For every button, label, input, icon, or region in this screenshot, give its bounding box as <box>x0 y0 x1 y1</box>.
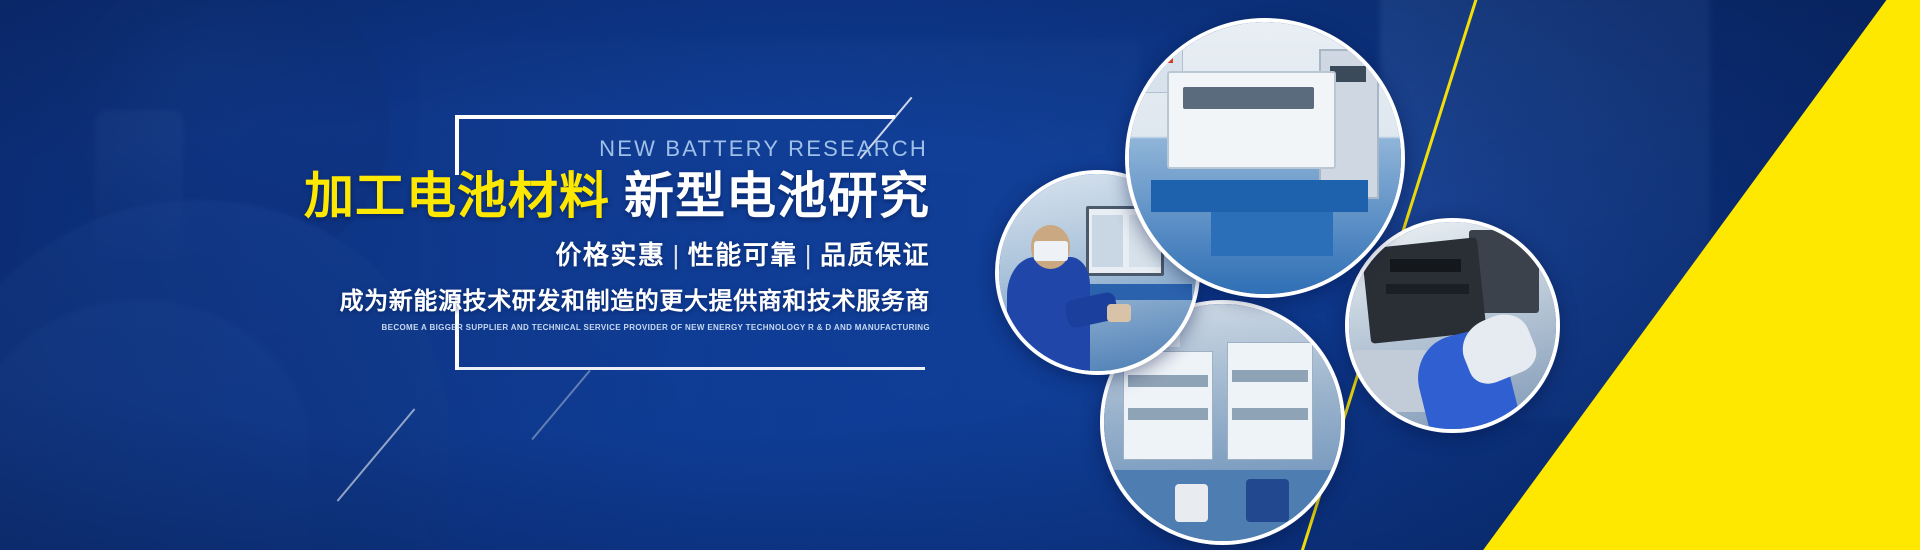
tagline-english-text: BECOME A BIGGER SUPPLIER AND TECHNICAL S… <box>300 323 930 332</box>
feature-item-1: 价格实惠 <box>555 240 665 270</box>
feature-item-2: 性能可靠 <box>688 240 798 270</box>
promo-banner: NEW BATTERY RESEARCH 加工电池材料新型电池研究 价格实惠|性… <box>0 0 1920 550</box>
feature-separator-2: | <box>805 240 813 270</box>
frame-top-horizontal <box>455 115 895 119</box>
operator-face-mask <box>1034 241 1067 261</box>
rack-shelf-3 <box>1232 370 1308 382</box>
coating-machine-photo <box>1125 18 1405 298</box>
headline-highlight: 加工电池材料 <box>304 168 610 224</box>
lab-floor <box>1104 470 1341 541</box>
feature-item-3: 品质保证 <box>820 240 930 270</box>
floor-equipment-dark <box>1246 479 1289 522</box>
rack-shelf-1 <box>1128 375 1209 387</box>
rack-right <box>1227 342 1312 461</box>
floor-equipment-light <box>1175 484 1208 522</box>
coating-machine-image <box>1129 22 1401 294</box>
feature-list: 价格实惠|性能可靠|品质保证 <box>300 235 930 272</box>
machine-base <box>1151 180 1369 213</box>
page-title: 加工电池材料新型电池研究 <box>300 170 930 223</box>
tagline-text: 成为新能源技术研发和制造的更大提供商和技术服务商 <box>300 281 930 316</box>
frame-bottom-horizontal <box>455 367 925 370</box>
eyebrow-text: NEW BATTERY RESEARCH <box>300 138 930 160</box>
blue-conveyor-mat <box>1211 212 1333 256</box>
roller-housing <box>1167 71 1336 169</box>
banner-text-block: NEW BATTERY RESEARCH 加工电池材料新型电池研究 价格实惠|性… <box>300 138 930 332</box>
operator-hand <box>1107 304 1131 322</box>
screen-panel-left <box>1092 215 1124 266</box>
emergency-stop-button <box>1145 41 1172 63</box>
roller-shaft <box>1183 87 1314 109</box>
work-surface <box>1353 350 1428 412</box>
rack-shelf-4 <box>1232 408 1308 420</box>
feature-separator-1: | <box>672 240 680 270</box>
headline-main: 新型电池研究 <box>624 168 930 224</box>
rack-shelf-2 <box>1128 408 1209 420</box>
